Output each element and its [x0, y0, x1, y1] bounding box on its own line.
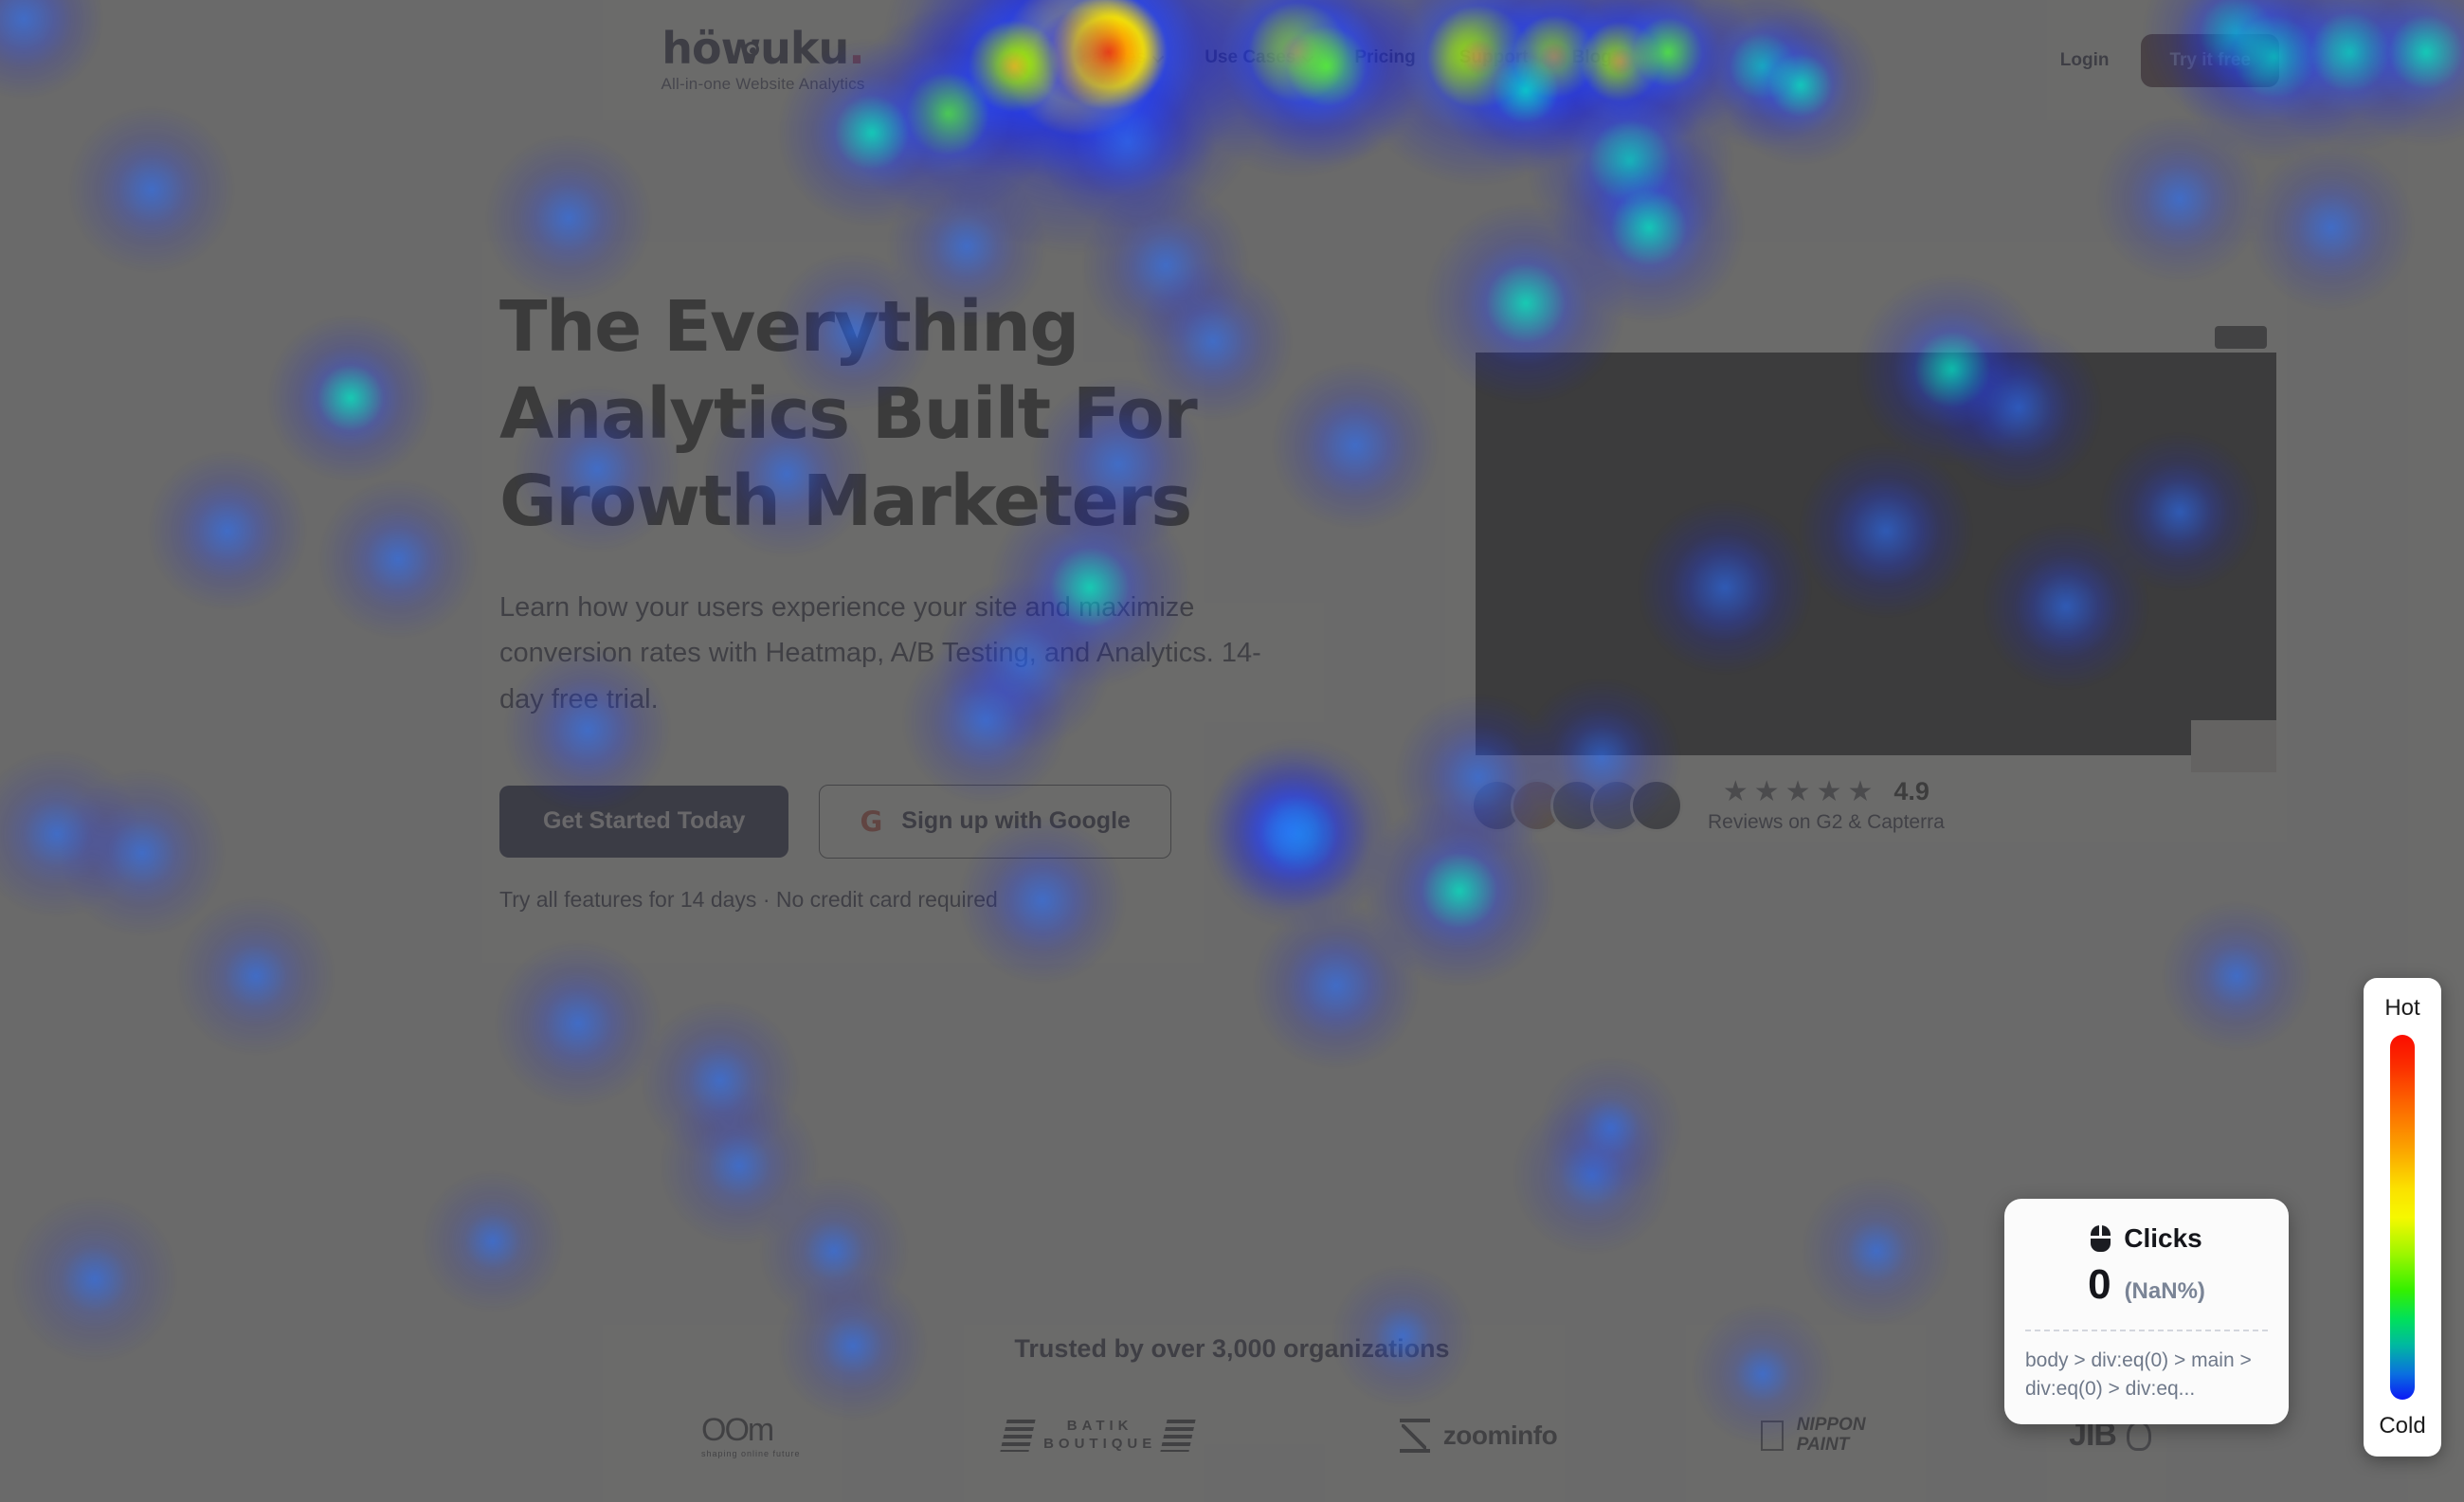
- clicks-css-selector: body > div:eq(0) > main > div:eq(0) > di…: [2025, 1347, 2268, 1403]
- nav-label: Use Cases: [1205, 47, 1295, 68]
- client-logo-sub: shaping online future: [701, 1449, 801, 1458]
- sign-up-with-google-button[interactable]: G Sign up with Google: [819, 785, 1170, 859]
- get-started-button[interactable]: Get Started Today: [499, 786, 788, 858]
- page-title: The Everything Analytics Built For Growt…: [499, 284, 1333, 545]
- clicks-header: Clicks: [2025, 1223, 2268, 1254]
- clicks-title: Clicks: [2124, 1223, 2202, 1254]
- client-logo-nippon-paint: NIPPON PAINT: [1761, 1416, 1866, 1456]
- hero-content: The Everything Analytics Built For Growt…: [499, 284, 1333, 913]
- social-proof: ★ ★ ★ ★ ★ 4.9 Reviews on G2 & Capterra: [1471, 777, 1945, 834]
- client-logo-name: NIPPON: [1797, 1415, 1866, 1435]
- clicks-count: 0: [2088, 1261, 2111, 1309]
- star-icon: ★: [1754, 778, 1780, 806]
- client-logo-batik-boutique: BATIK BOUTIQUE: [1004, 1418, 1196, 1454]
- client-logo-name: OOm: [701, 1412, 772, 1448]
- batik-pattern-icon: [1000, 1420, 1035, 1452]
- jib-bulb-icon: [2127, 1421, 2151, 1451]
- hero-video-panel[interactable]: [1476, 353, 2276, 755]
- rating-block: ★ ★ ★ ★ ★ 4.9 Reviews on G2 & Capterra: [1708, 777, 1945, 834]
- legend-cold-label: Cold: [2379, 1413, 2425, 1439]
- clicks-percent: (NaN%): [2125, 1278, 2205, 1305]
- client-logo-oom: OOm shaping online future: [701, 1412, 801, 1458]
- client-logo-sub: PAINT: [1797, 1435, 1850, 1455]
- logo-dot: .: [848, 23, 863, 74]
- client-logo-name: BATIK: [1043, 1418, 1156, 1436]
- site-logo[interactable]: höwuku. All-in-one Website Analytics: [644, 27, 881, 94]
- clicks-value-row: 0 (NaN%): [2025, 1261, 2268, 1309]
- cta-note: Try all features for 14 days · No credit…: [499, 887, 1333, 913]
- star-icon: ★: [1723, 778, 1748, 806]
- login-link[interactable]: Login: [2060, 50, 2110, 71]
- legend-gradient-bar: [2390, 1035, 2415, 1400]
- site-header: höwuku. All-in-one Website Analytics Fea…: [0, 0, 2464, 128]
- client-logo-zoominfo: zoominfo: [1400, 1419, 1557, 1453]
- hero-cta-row: Get Started Today G Sign up with Google: [499, 785, 1333, 859]
- nav-label: Features: [1071, 47, 1146, 68]
- nav-item-features[interactable]: Features: [1071, 47, 1161, 68]
- hero-subheadline: Learn how your users experience your sit…: [499, 585, 1286, 721]
- logo-tagline: All-in-one Website Analytics: [644, 75, 881, 94]
- logo-eye-icon: [744, 42, 759, 57]
- batik-pattern-icon: [1161, 1420, 1196, 1452]
- google-icon: G: [860, 805, 882, 838]
- nav-label: Pricing: [1354, 47, 1415, 68]
- nippon-paint-mark-icon: [1761, 1421, 1784, 1451]
- client-logo-sub: BOUTIQUE: [1043, 1436, 1156, 1454]
- mouse-icon: [2091, 1225, 2111, 1252]
- heatmap-legend: Hot Cold: [2364, 978, 2441, 1457]
- nav-item-use-cases[interactable]: Use Cases: [1205, 47, 1311, 68]
- header-actions: Login Try it free: [2060, 34, 2279, 87]
- nav-item-support[interactable]: Support: [1459, 47, 1529, 68]
- avatar: [1630, 779, 1683, 832]
- rating-value: 4.9: [1893, 777, 1930, 806]
- hero-media-tab: [2215, 326, 2267, 349]
- star-icon: ★: [1785, 778, 1811, 806]
- star-rating: ★ ★ ★ ★ ★ 4.9: [1708, 777, 1945, 806]
- nav-label: Support: [1459, 47, 1529, 68]
- chevron-down-icon: [1302, 50, 1314, 63]
- logo-wordmark: höwuku.: [644, 27, 881, 70]
- main-navigation: Features Use Cases Pricing Support Blog: [1071, 47, 1612, 68]
- nav-item-pricing[interactable]: Pricing: [1354, 47, 1415, 68]
- client-logo-strip: OOm shaping online future BATIK BOUTIQUE…: [701, 1412, 2151, 1458]
- try-it-free-button[interactable]: Try it free: [2141, 34, 2279, 87]
- zoominfo-mark-icon: [1400, 1419, 1430, 1453]
- reviews-source-text: Reviews on G2 & Capterra: [1708, 811, 1945, 834]
- legend-hot-label: Hot: [2384, 995, 2419, 1022]
- google-button-label: Sign up with Google: [901, 807, 1131, 835]
- hero-media-corner: [2191, 720, 2276, 772]
- star-icon: ★: [1817, 778, 1842, 806]
- chevron-down-icon: [1152, 50, 1165, 63]
- star-icon: ★: [1847, 778, 1873, 806]
- avatar-group: [1471, 779, 1683, 832]
- nav-label: Blog: [1572, 47, 1612, 68]
- nav-item-blog[interactable]: Blog: [1572, 47, 1612, 68]
- clicks-info-panel: Clicks 0 (NaN%) body > div:eq(0) > main …: [2004, 1199, 2289, 1424]
- client-logo-name: zoominfo: [1443, 1421, 1557, 1451]
- divider: [2025, 1330, 2268, 1331]
